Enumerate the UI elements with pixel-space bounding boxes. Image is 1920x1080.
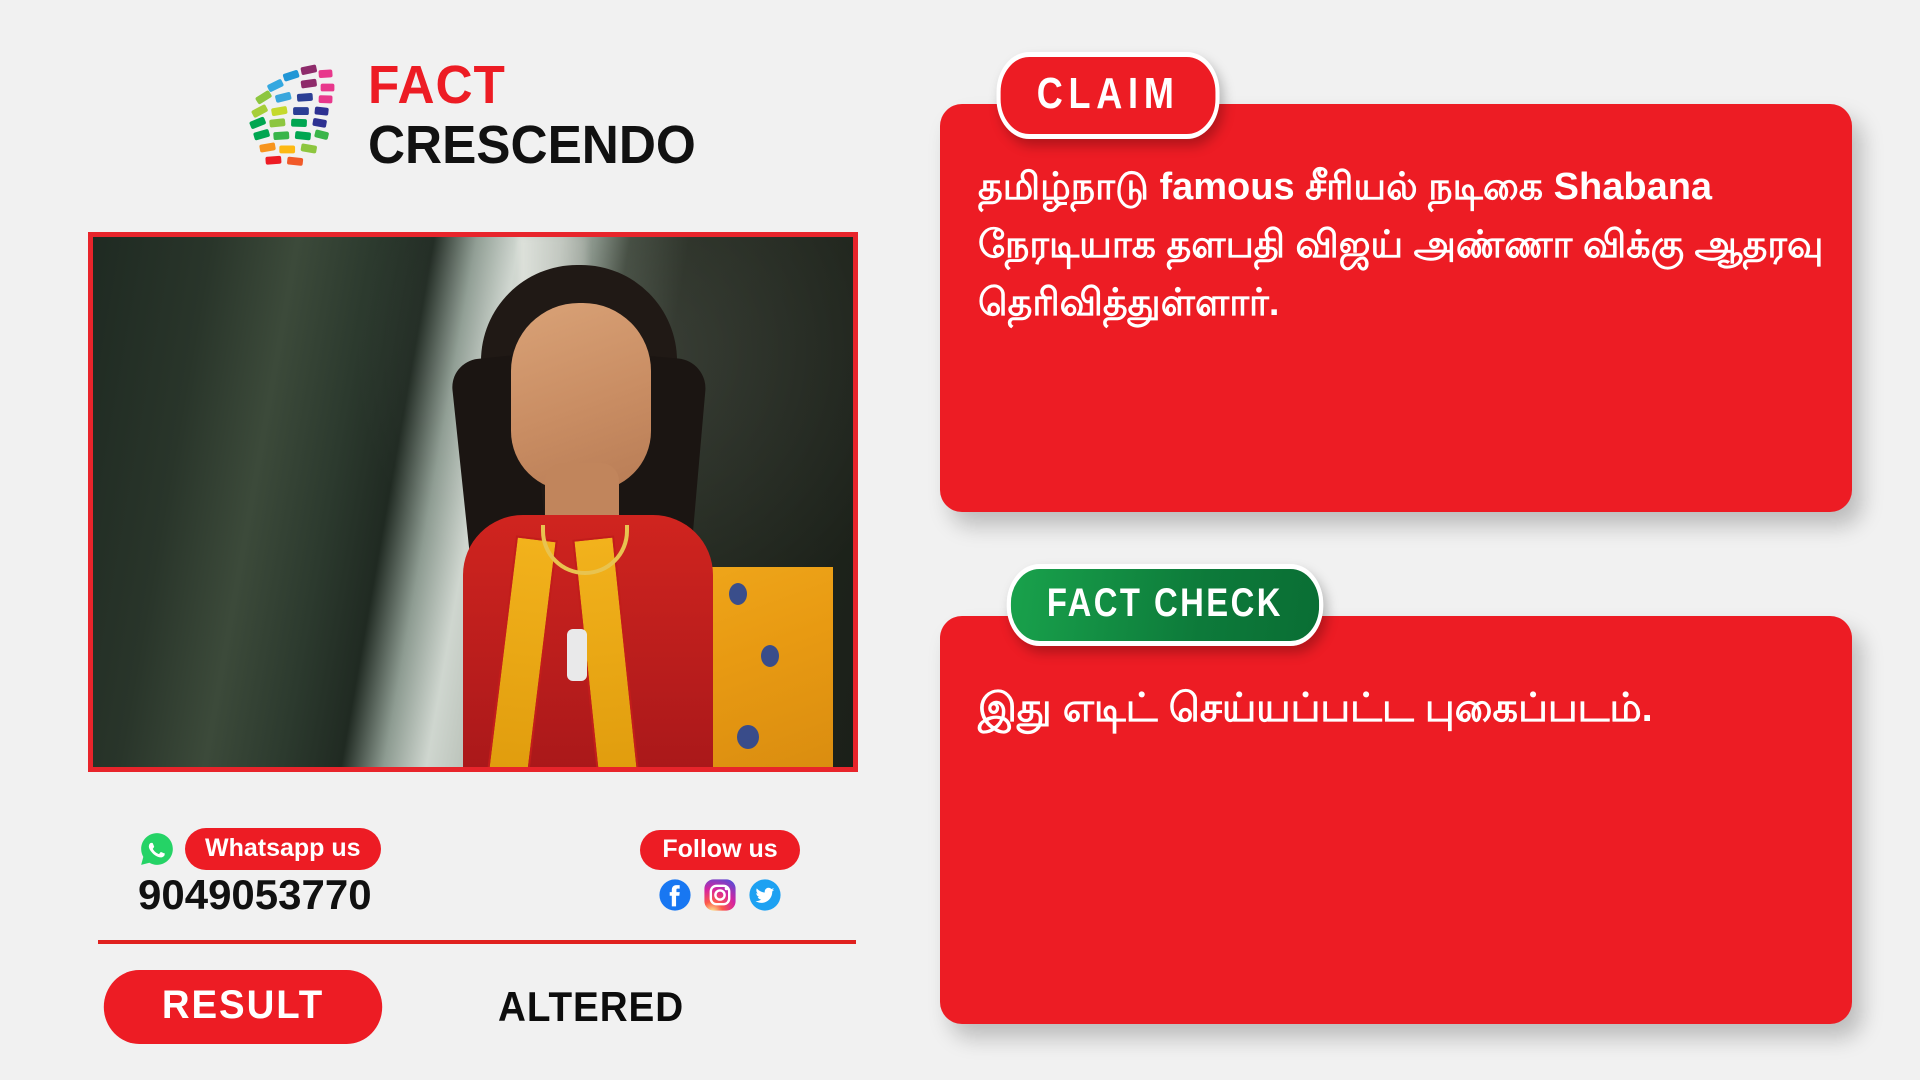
- result-row: RESULT ALTERED: [98, 962, 878, 1052]
- globe-mosaic-icon: [240, 58, 358, 176]
- claim-tag: CLAIM: [997, 52, 1220, 139]
- factcheck-tag: FACT CHECK: [1007, 564, 1323, 646]
- subject-pendant: [567, 629, 587, 681]
- whatsapp-group[interactable]: Whatsapp us: [138, 828, 381, 870]
- brand-wordmark: FACT CRESCENDO: [368, 56, 713, 176]
- footer-divider: [98, 940, 856, 944]
- factcheck-panel: [940, 616, 1852, 1024]
- brand-name-fact: FACT: [368, 56, 696, 114]
- fact-check-graphic: FACT CRESCENDO: [0, 0, 1920, 1080]
- brand-logo: FACT CRESCENDO: [240, 50, 710, 185]
- claim-text: தமிழ்நாடு famous சீரியல் நடிகை Shabana ந…: [978, 158, 1828, 332]
- social-icon-row: [620, 878, 820, 912]
- whatsapp-icon[interactable]: [138, 830, 176, 868]
- follow-group: Follow us: [620, 830, 820, 912]
- result-value: ALTERED: [498, 983, 684, 1031]
- claim-photo: FACT CRESCENDO FACT CRESCENDO ALTERED: [88, 232, 858, 772]
- follow-label: Follow us: [640, 830, 799, 870]
- brand-name-crescendo: CRESCENDO: [368, 114, 696, 176]
- facebook-icon[interactable]: [658, 878, 692, 912]
- contact-row: Whatsapp us 9049053770 Follow us: [100, 828, 860, 904]
- factcheck-text: இது எடிட் செய்யப்பட்ட புகைப்படம்.: [978, 680, 1838, 736]
- instagram-icon[interactable]: [703, 878, 737, 912]
- whatsapp-label[interactable]: Whatsapp us: [185, 828, 381, 870]
- whatsapp-number[interactable]: 9049053770: [138, 872, 372, 918]
- result-label: RESULT: [104, 970, 382, 1044]
- twitter-icon[interactable]: [748, 878, 782, 912]
